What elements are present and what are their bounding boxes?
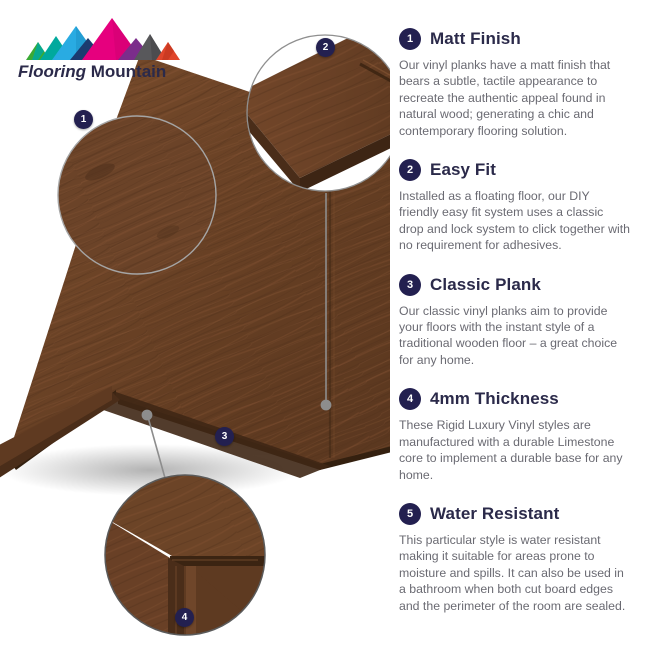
feature-body-2: Installed as a floating floor, our DIY f… [399,188,631,254]
feature-list: 1 Matt Finish Our vinyl planks have a ma… [399,28,639,614]
photo-marker-3[interactable]: 3 [215,427,234,446]
feature-body-3: Our classic vinyl planks aim to provide … [399,303,631,369]
product-photo-panel: 1 2 3 4 [0,0,390,650]
feature-item-classic-plank: 3 Classic Plank Our classic vinyl planks… [399,274,639,369]
photo-marker-4[interactable]: 4 [175,608,194,627]
brand-name-part2: Mountain [91,62,167,81]
feature-number-badge-3: 3 [399,274,421,296]
feature-item-matt-finish: 1 Matt Finish Our vinyl planks have a ma… [399,28,639,139]
feature-header: 3 Classic Plank [399,274,639,296]
feature-header: 4 4mm Thickness [399,388,639,410]
callout-circle-matt-finish [58,116,216,274]
feature-title-3: Classic Plank [430,275,541,295]
feature-header: 2 Easy Fit [399,159,639,181]
feature-title-1: Matt Finish [430,29,521,49]
feature-number-badge-5: 5 [399,503,421,525]
feature-number-badge-4: 4 [399,388,421,410]
feature-title-4: 4mm Thickness [430,389,559,409]
feature-body-4: These Rigid Luxury Vinyl styles are manu… [399,417,631,483]
feature-title-5: Water Resistant [430,504,559,524]
feature-header: 5 Water Resistant [399,503,639,525]
infographic-page: 1 2 3 4 Fl [0,0,650,650]
feature-number-badge-1: 1 [399,28,421,50]
feature-body-5: This particular style is water resistant… [399,532,631,614]
brand-wordmark: Flooring Mountain [18,62,166,82]
feature-title-2: Easy Fit [430,160,496,180]
brand-logo[interactable]: Flooring Mountain [18,18,183,80]
feature-item-water-resistant: 5 Water Resistant This particular style … [399,503,639,614]
photo-marker-2[interactable]: 2 [316,38,335,57]
brand-name-part1: Flooring [18,62,86,81]
feature-number-badge-2: 2 [399,159,421,181]
feature-header: 1 Matt Finish [399,28,639,50]
mountain-logo-icon [18,18,183,66]
feature-item-easy-fit: 2 Easy Fit Installed as a floating floor… [399,159,639,254]
feature-item-thickness: 4 4mm Thickness These Rigid Luxury Vinyl… [399,388,639,483]
feature-body-1: Our vinyl planks have a matt finish that… [399,57,631,139]
photo-marker-1[interactable]: 1 [74,110,93,129]
